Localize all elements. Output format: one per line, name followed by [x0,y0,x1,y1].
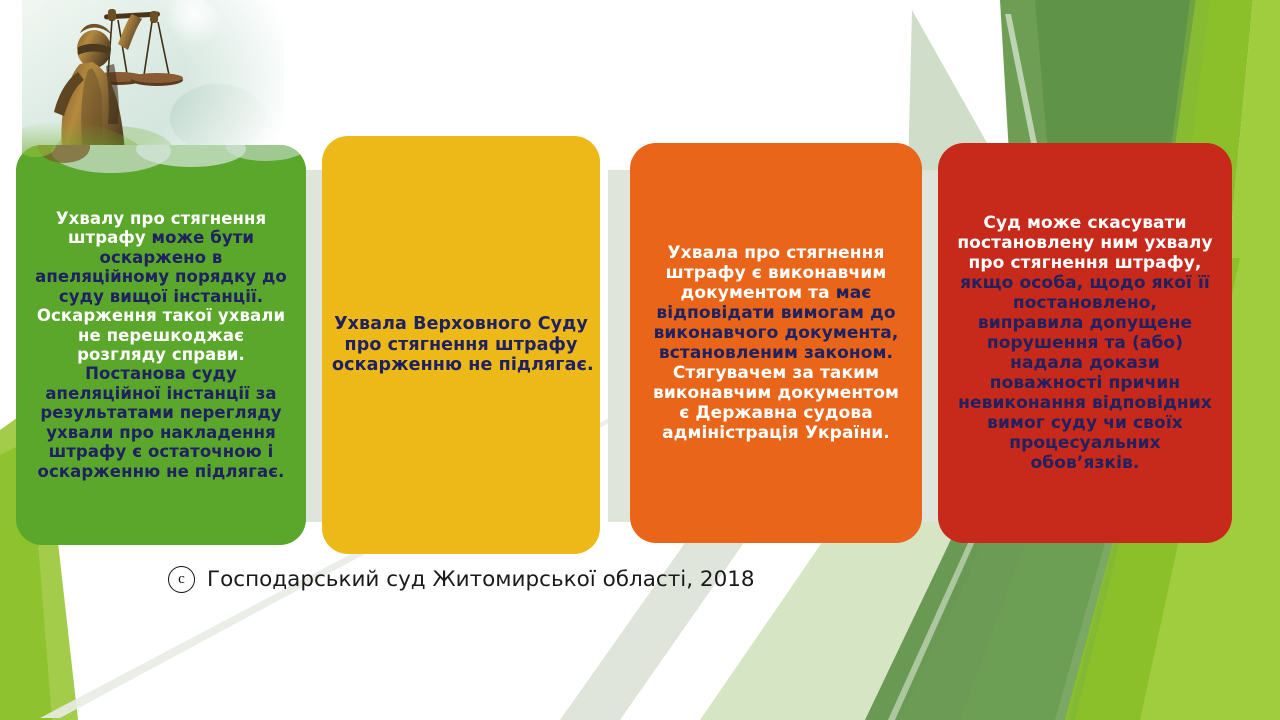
card-red-line-8: надала докази [948,353,1222,373]
card-green-photo-bleed [16,145,306,185]
footer: c Господарський суд Житомирської області… [168,566,755,593]
card-red-line-7: порушення та (або) [948,333,1222,353]
card-orange-text: Ухвала про стягнення штрафу є виконавчим… [630,243,922,443]
card-green-line-14: оскарженню не підлягає. [26,462,296,481]
card-green-line-5: суду вищої інстанції. [26,287,296,306]
card-green-line-13: штрафу є остаточною і [26,442,296,461]
copyright-icon: c [168,566,195,593]
card-green-line-3: оскаржено в [26,248,296,267]
card-red-line-13: обов’язків. [948,453,1222,473]
card-red-line-12: процесуальних [948,433,1222,453]
card-orange-line-7: Стягувачем за таким [640,363,912,383]
card-red-line-11: вимог суду чи своїх [948,413,1222,433]
card-red-line-10: невиконання відповідних [948,393,1222,413]
card-green-line-7: не перешкоджає [26,326,296,345]
card-orange[interactable]: Ухвала про стягнення штрафу є виконавчим… [630,143,922,543]
card-red-line-2: постановлену ним ухвалу [948,233,1222,253]
card-green-line-10: апеляційної інстанції за [26,384,296,403]
card-red-line-6: виправила допущене [948,313,1222,333]
card-orange-line-4: відповідати вимогам до [640,303,912,323]
card-green-line-2: штрафу може бути [26,228,296,247]
card-yellow-line-1: Ухвала Верховного Суду [332,314,590,335]
card-orange-line-10: адміністрація України. [640,423,912,443]
slide-canvas: Ухвалу про стягнення штрафу може бути ос… [0,0,1280,720]
card-green[interactable]: Ухвалу про стягнення штрафу може бути ос… [16,145,306,545]
card-orange-line-1: Ухвала про стягнення [640,243,912,263]
card-orange-line-6: встановленим законом. [640,343,912,363]
card-green-line-4: апеляційному порядку до [26,267,296,286]
card-red-line-1: Суд може скасувати [948,213,1222,233]
card-green-line-12: ухвали про накладення [26,423,296,442]
card-green-line-1: Ухвалу про стягнення [26,209,296,228]
card-orange-line-2: штрафу є виконавчим [640,263,912,283]
card-orange-line-9: є Державна судова [640,403,912,423]
card-orange-line-8: виконавчим документом [640,383,912,403]
card-red[interactable]: Суд може скасувати постановлену ним ухва… [938,143,1232,543]
card-yellow-text: Ухвала Верховного Суду про стягнення штр… [322,314,600,376]
decor-green-light [1228,0,1280,262]
card-red-line-5: постановлено, [948,293,1222,313]
card-green-line-9: Постанова суду [26,364,296,383]
footer-text: Господарський суд Житомирської області, … [207,567,755,592]
card-yellow[interactable]: Ухвала Верховного Суду про стягнення штр… [322,136,600,554]
card-red-line-4: якщо особа, щодо якої її [948,273,1222,293]
card-orange-line-3: документом та має [640,283,912,303]
card-green-line-6: Оскарження такої ухвали [26,306,296,325]
card-red-line-3: про стягнення штрафу, [948,253,1222,273]
card-yellow-line-2: про стягнення штрафу [332,335,590,356]
card-red-text: Суд може скасувати постановлену ним ухва… [938,213,1232,474]
card-green-line-8: розгляду справи. [26,345,296,364]
card-red-line-9: поважності причин [948,373,1222,393]
card-green-text: Ухвалу про стягнення штрафу може бути ос… [16,209,306,482]
card-green-line-11: результатами перегляду [26,403,296,422]
card-yellow-line-3: оскарженню не підлягає. [332,355,590,376]
card-orange-line-5: виконавчого документа, [640,323,912,343]
